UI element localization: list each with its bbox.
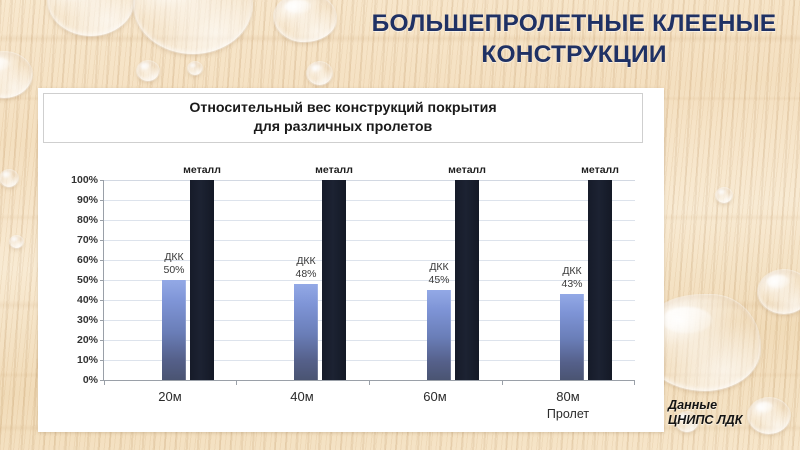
water-droplet-icon xyxy=(274,0,336,42)
x-tick-mark xyxy=(236,380,237,385)
y-axis-tick-label: 50% xyxy=(77,274,98,286)
x-tick-mark xyxy=(502,380,503,385)
bar-dkk[interactable]: ДКК 50% xyxy=(162,280,186,380)
bar-group: ДКК 50% металл 20м xyxy=(104,180,236,380)
bar-group: ДКК 48% металл 40м xyxy=(236,180,369,380)
bar-dkk[interactable]: ДКК 43% xyxy=(560,294,584,380)
chart-title-line-2: для различных пролетов xyxy=(189,118,496,137)
bar-label-dkk: ДКК 50% xyxy=(163,251,184,277)
water-droplet-icon xyxy=(10,236,23,248)
bar-dkk[interactable]: ДКК 45% xyxy=(427,290,451,380)
bar-metal[interactable]: металл xyxy=(190,180,214,380)
source-note: Данные ЦНИПС ЛДК xyxy=(668,398,796,429)
y-axis-tick-label: 70% xyxy=(77,234,98,246)
bar-metal[interactable]: металл xyxy=(588,180,612,380)
source-note-line-2: ЦНИПС ЛДК xyxy=(668,413,796,428)
y-axis-tick-label: 20% xyxy=(77,334,98,346)
x-tick-mark xyxy=(634,380,635,385)
slide-title-line-1: БОЛЬШЕПРОЛЕТНЫЕ КЛЕЕНЫЕ xyxy=(352,8,796,39)
slide-title-line-2: КОНСТРУКЦИИ xyxy=(352,39,796,70)
y-axis-tick-label: 100% xyxy=(71,174,98,186)
y-axis-tick-label: 0% xyxy=(83,374,98,386)
x-axis-tick-label: 80м xyxy=(556,389,579,404)
x-axis-title: Пролет xyxy=(547,407,589,421)
water-droplet-icon xyxy=(716,188,732,203)
water-droplet-icon xyxy=(188,62,202,75)
bar-label-metal: металл xyxy=(183,164,221,177)
water-droplet-icon xyxy=(137,61,159,81)
water-droplet-icon xyxy=(307,62,332,85)
water-droplet-icon xyxy=(0,170,18,187)
x-axis-tick-label: 40м xyxy=(290,389,313,404)
bar-value-dkk: 45% xyxy=(428,274,449,287)
source-note-line-1: Данные xyxy=(668,398,796,413)
bar-label-dkk: ДКК 43% xyxy=(561,265,582,291)
x-tick-mark xyxy=(369,380,370,385)
bar-value-dkk: 50% xyxy=(163,264,184,277)
water-droplet-icon xyxy=(48,0,134,36)
slide-title: БОЛЬШЕПРОЛЕТНЫЕ КЛЕЕНЫЕ КОНСТРУКЦИИ xyxy=(352,8,796,71)
series-name-metal: металл xyxy=(581,164,619,177)
y-axis-tick-label: 90% xyxy=(77,194,98,206)
x-tick-mark xyxy=(104,380,105,385)
chart-title: Относительный вес конструкций покрытия д… xyxy=(189,99,496,136)
bar-value-dkk: 43% xyxy=(561,278,582,291)
series-name-metal: металл xyxy=(315,164,353,177)
y-axis-tick-label: 80% xyxy=(77,214,98,226)
y-axis-tick-label: 10% xyxy=(77,354,98,366)
series-name-dkk: ДКК xyxy=(295,255,316,268)
bar-label-dkk: ДКК 45% xyxy=(428,261,449,287)
x-axis-tick-label: 60м xyxy=(423,389,446,404)
slide-canvas: БОЛЬШЕПРОЛЕТНЫЕ КЛЕЕНЫЕ КОНСТРУКЦИИ Отно… xyxy=(0,0,800,450)
chart-plot-area: 100% 90% 80% 70% 60% 50% 40% 30% xyxy=(103,180,635,381)
bar-label-dkk: ДКК 48% xyxy=(295,255,316,281)
bar-dkk[interactable]: ДКК 48% xyxy=(294,284,318,380)
series-name-dkk: ДКК xyxy=(163,251,184,264)
bar-metal[interactable]: металл xyxy=(455,180,479,380)
series-name-dkk: ДКК xyxy=(561,265,582,278)
bar-metal[interactable]: металл xyxy=(322,180,346,380)
water-droplet-icon xyxy=(758,270,800,314)
series-name-metal: металл xyxy=(183,164,221,177)
bar-label-metal: металл xyxy=(581,164,619,177)
y-axis-tick-label: 60% xyxy=(77,254,98,266)
x-axis-tick-label: 20м xyxy=(158,389,181,404)
chart-title-box: Относительный вес конструкций покрытия д… xyxy=(43,93,643,143)
bar-group: ДКК 43% металл 80м Пролет xyxy=(502,180,635,380)
bar-group: ДКК 45% металл 60м xyxy=(369,180,502,380)
bar-label-metal: металл xyxy=(448,164,486,177)
series-name-dkk: ДКК xyxy=(428,261,449,274)
chart-panel: Относительный вес конструкций покрытия д… xyxy=(38,88,664,432)
chart-title-line-1: Относительный вес конструкций покрытия xyxy=(189,99,496,118)
y-axis-tick-label: 30% xyxy=(77,314,98,326)
bar-value-dkk: 48% xyxy=(295,268,316,281)
series-name-metal: металл xyxy=(448,164,486,177)
y-axis-tick-label: 40% xyxy=(77,294,98,306)
water-droplet-icon xyxy=(0,52,32,98)
bar-label-metal: металл xyxy=(315,164,353,177)
water-droplet-icon xyxy=(134,0,252,54)
